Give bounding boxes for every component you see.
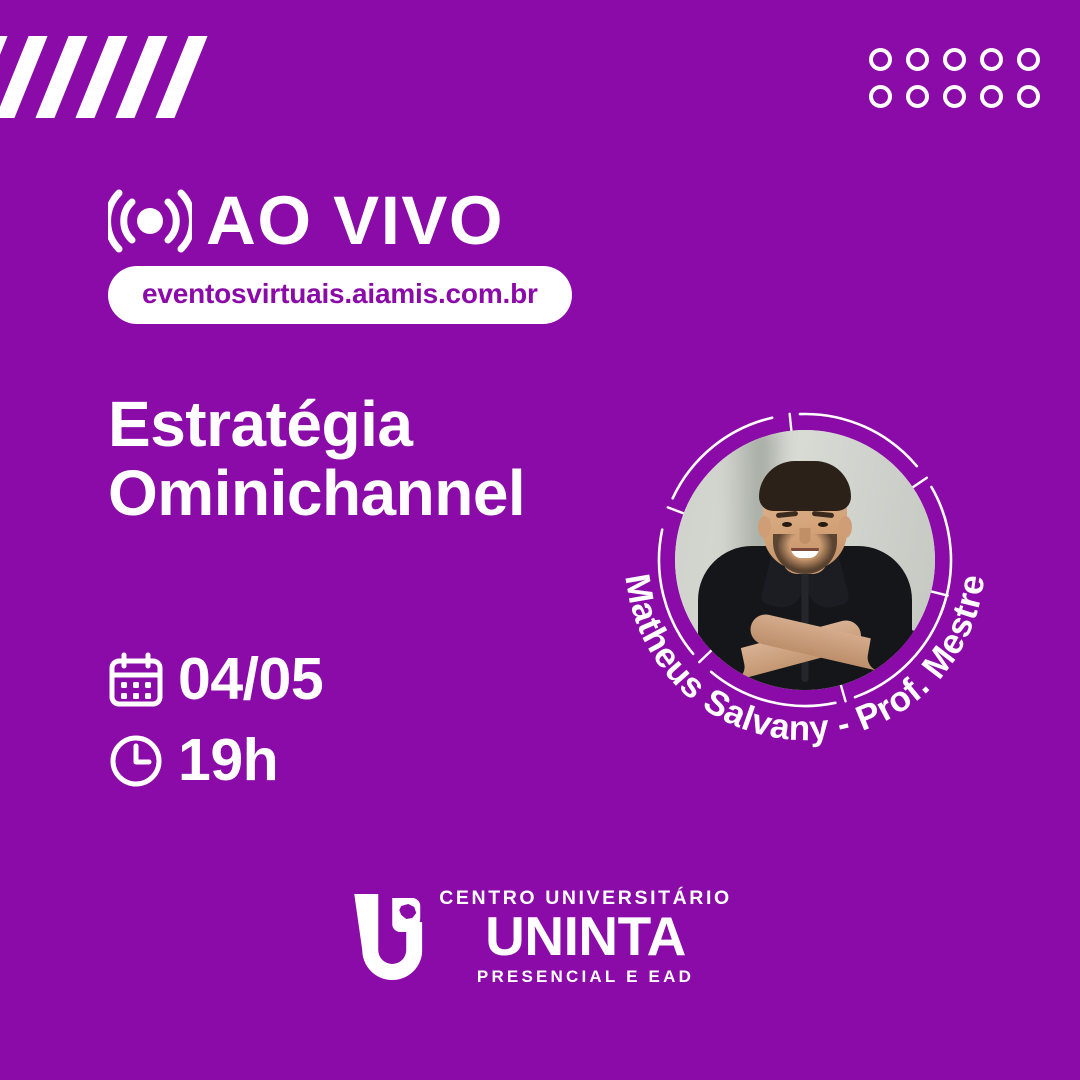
clock-icon xyxy=(108,733,164,789)
event-time-row: 19h xyxy=(108,731,323,790)
ring-decoration xyxy=(906,85,929,108)
ring-decoration xyxy=(1017,85,1040,108)
event-title-line2: Ominichannel xyxy=(108,459,525,528)
ring-decoration xyxy=(943,48,966,71)
ring-decoration xyxy=(980,85,1003,108)
calendar-icon xyxy=(108,652,164,708)
ring-grid-decoration xyxy=(869,48,1044,120)
event-title: Estratégia Ominichannel xyxy=(108,390,525,528)
ring-decoration xyxy=(869,48,892,71)
event-url-pill[interactable]: eventosvirtuais.aiamis.com.br xyxy=(108,266,572,324)
ring-decoration xyxy=(906,48,929,71)
event-url-text: eventosvirtuais.aiamis.com.br xyxy=(142,278,538,310)
speaker-name-curved: Matheus Salvany - Prof. Mestre xyxy=(555,310,1055,810)
speaker-name-text: Matheus Salvany - Prof. Mestre xyxy=(617,571,992,748)
event-time: 19h xyxy=(178,731,278,790)
ring-decoration xyxy=(980,48,1003,71)
broadcast-icon xyxy=(108,188,192,254)
event-title-line1: Estratégia xyxy=(108,388,412,460)
ring-decoration xyxy=(1017,48,1040,71)
diagonal-slashes-decoration xyxy=(0,36,232,118)
event-date-row: 04/05 xyxy=(108,650,323,709)
ring-decoration xyxy=(943,85,966,108)
poster-canvas: AO VIVO eventosvirtuais.aiamis.com.br Es… xyxy=(0,0,1080,1080)
uninta-logo: CENTRO UNIVERSITÁRIO UNINTA PRESENCIAL E… xyxy=(348,888,732,986)
logo-sub-line: PRESENCIAL E EAD xyxy=(477,968,694,985)
svg-text:Matheus Salvany - Prof. Mestre: Matheus Salvany - Prof. Mestre xyxy=(617,571,992,748)
slash-decoration xyxy=(155,36,207,118)
speaker-block: Matheus Salvany - Prof. Mestre xyxy=(555,310,1055,810)
ring-decoration xyxy=(869,85,892,108)
logo-main-word: UNINTA xyxy=(485,908,686,965)
uninta-logo-text: CENTRO UNIVERSITÁRIO UNINTA PRESENCIAL E… xyxy=(439,889,732,986)
uninta-u-brazil-mark xyxy=(348,888,422,986)
event-meta: 04/05 19h xyxy=(108,650,323,790)
event-date: 04/05 xyxy=(178,650,323,709)
live-label: AO VIVO xyxy=(206,186,504,255)
live-badge: AO VIVO xyxy=(108,186,504,255)
